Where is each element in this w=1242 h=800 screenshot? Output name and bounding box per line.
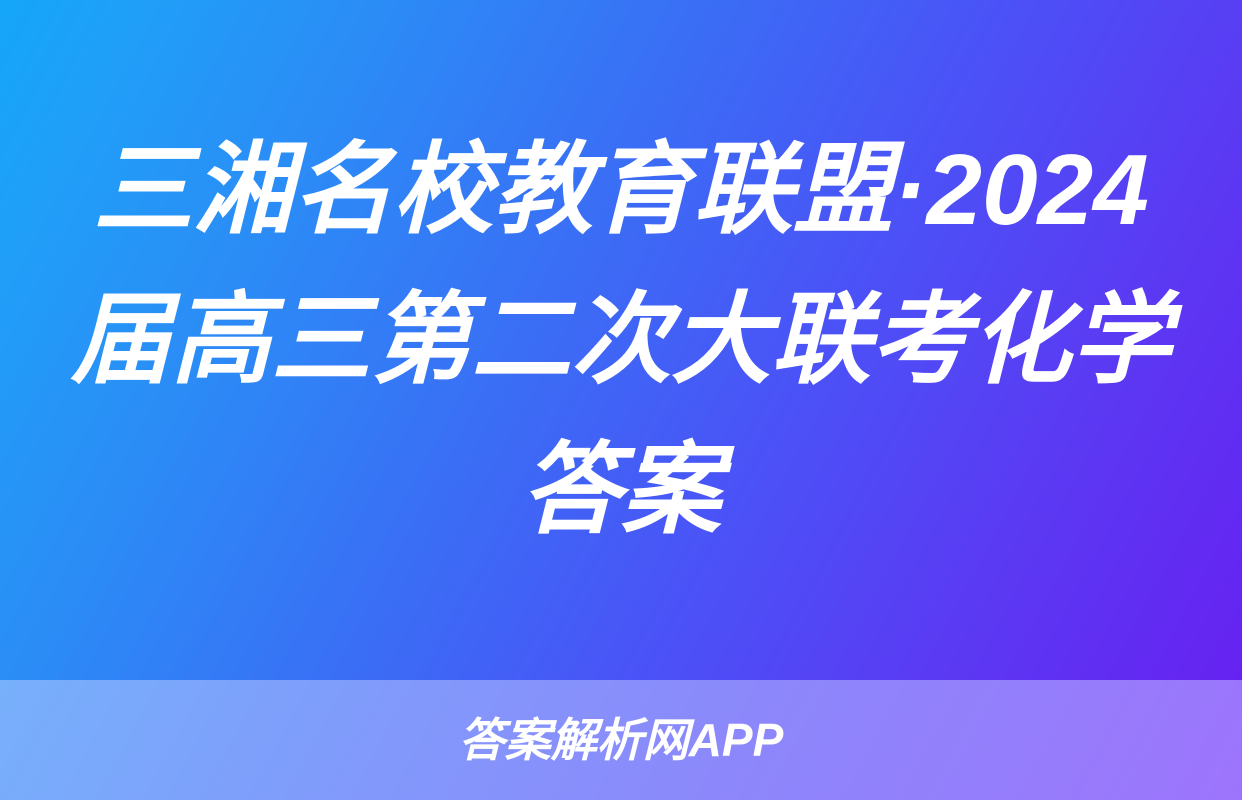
page-title: 三湘名校教育联盟·2024 届高三第二次大联考化学 答案: [66, 115, 1176, 565]
watermark-banner: 答案解析网APP: [0, 680, 1242, 800]
title-line-3: 答案: [66, 415, 1176, 565]
hero-gradient-panel: 三湘名校教育联盟·2024 届高三第二次大联考化学 答案: [0, 0, 1242, 680]
watermark-label: 答案解析网APP: [459, 717, 784, 763]
title-line-2: 届高三第二次大联考化学: [66, 265, 1176, 415]
title-line-1: 三湘名校教育联盟·2024: [66, 115, 1176, 265]
answer-cover-poster: 三湘名校教育联盟·2024 届高三第二次大联考化学 答案 答案解析网APP: [0, 0, 1242, 800]
